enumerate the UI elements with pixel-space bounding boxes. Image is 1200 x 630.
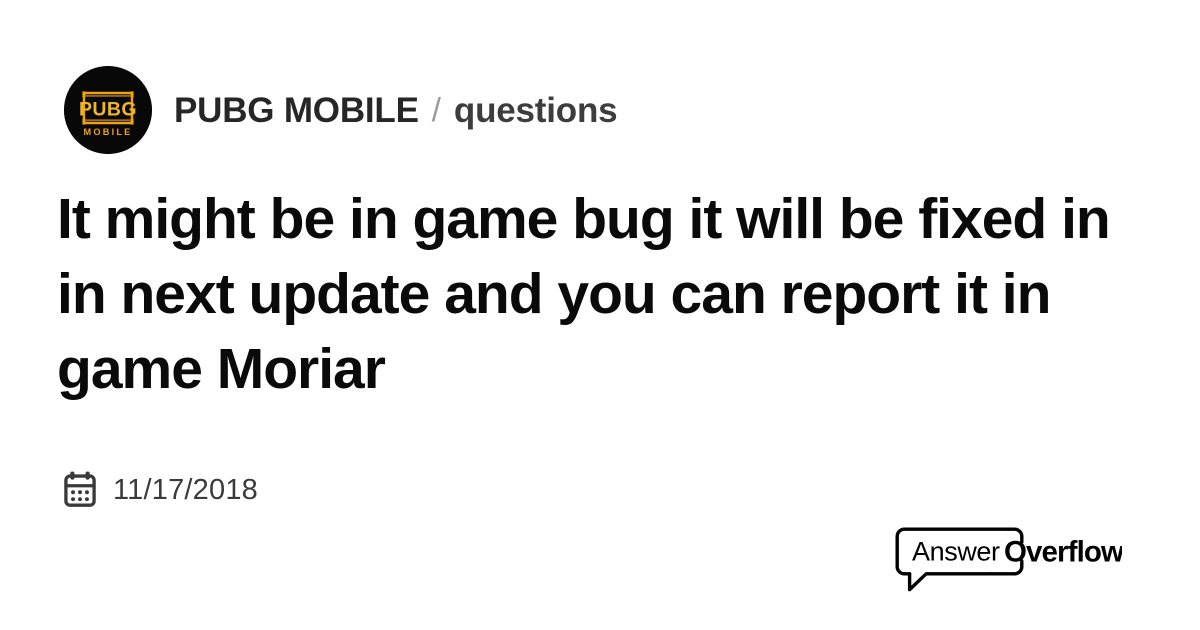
answer-overflow-logo[interactable]: Answer Overflow xyxy=(890,522,1122,596)
header: PUBG MOBILE PUBG MOBILE / questions xyxy=(64,66,617,154)
open-graph-card: PUBG MOBILE PUBG MOBILE / questions It m… xyxy=(0,0,1200,630)
answer-overflow-name-bold: Overflow xyxy=(1004,536,1122,569)
pubg-mobile-logo-icon: PUBG MOBILE xyxy=(64,66,152,154)
breadcrumb: PUBG MOBILE / questions xyxy=(174,93,617,128)
svg-text:MOBILE: MOBILE xyxy=(84,127,133,137)
server-avatar[interactable]: PUBG MOBILE xyxy=(64,66,152,154)
svg-text:PUBG: PUBG xyxy=(79,98,137,120)
breadcrumb-channel-name[interactable]: questions xyxy=(454,93,618,128)
page-title: It might be in game bug it will be fixed… xyxy=(57,182,1147,407)
calendar-icon xyxy=(61,471,99,509)
answer-overflow-name-regular: Answer xyxy=(912,537,1000,567)
date-row: 11/17/2018 xyxy=(61,471,258,509)
breadcrumb-server-name[interactable]: PUBG MOBILE xyxy=(174,93,419,128)
post-date: 11/17/2018 xyxy=(113,476,258,505)
breadcrumb-separator: / xyxy=(432,93,441,126)
